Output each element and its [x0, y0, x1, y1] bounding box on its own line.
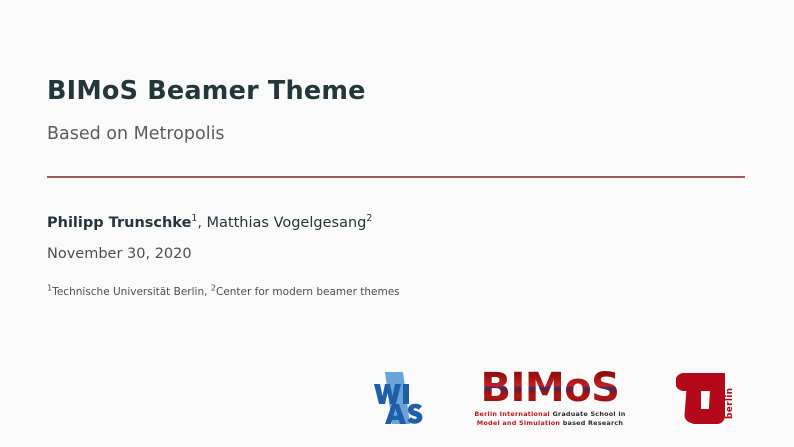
author-line: Philipp Trunschke1, Matthias Vogelgesang…	[47, 214, 747, 232]
page-title: BIMoS Beamer Theme	[47, 76, 747, 106]
bimos-tagline-line2: Model and Simulation based Research	[474, 419, 625, 428]
affiliation-text-2: Center for modern beamer themes	[216, 286, 400, 298]
presentation-date: November 30, 2020	[47, 232, 747, 263]
wias-logo	[368, 370, 424, 426]
bimos-tagline-line2-dark: based Research	[563, 419, 624, 427]
title-separator-rule	[47, 176, 745, 178]
bimos-wordmark: BIMoS	[479, 368, 622, 408]
tu-berlin-label: berlin	[725, 388, 735, 419]
bimos-tagline-line1: Berlin International Graduate School in	[474, 410, 625, 419]
bimos-tagline-line1-dark: Graduate School in	[552, 410, 625, 418]
page-subtitle: Based on Metropolis	[47, 106, 747, 145]
author-secondary-name: Matthias Vogelgesang	[207, 215, 367, 231]
bimos-logo: BIMoS Berlin International Graduate Scho…	[452, 367, 648, 429]
bimos-tagline-line2-red: Model and Simulation	[477, 419, 563, 427]
author-primary-name: Philipp Trunschke	[47, 215, 191, 231]
author-secondary-marker: 2	[366, 213, 372, 224]
bimos-tagline-line1-red: Berlin International	[474, 410, 552, 418]
affiliations-line: 1Technische Universität Berlin, 2Center …	[47, 264, 747, 300]
tu-berlin-logo: berlin	[676, 369, 738, 427]
affiliation-text-1: Technische Universität Berlin,	[52, 286, 211, 298]
bimos-tagline: Berlin International Graduate School in …	[474, 410, 625, 427]
title-block: BIMoS Beamer Theme Based on Metropolis	[47, 76, 747, 145]
title-slide: BIMoS Beamer Theme Based on Metropolis P…	[0, 0, 794, 447]
author-separator: ,	[197, 215, 206, 231]
logo-row: BIMoS Berlin International Graduate Scho…	[368, 363, 738, 433]
author-block: Philipp Trunschke1, Matthias Vogelgesang…	[47, 214, 747, 299]
